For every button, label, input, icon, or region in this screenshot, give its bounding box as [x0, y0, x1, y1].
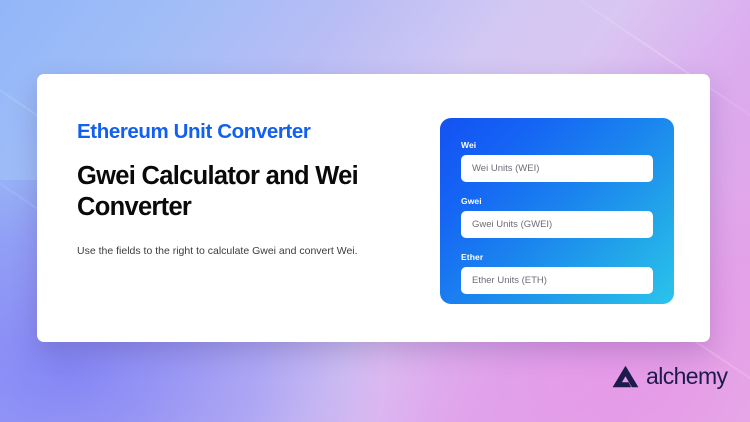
unit-converter-form: Wei Gwei Ether	[440, 118, 674, 304]
converter-card: Ethereum Unit Converter Gwei Calculator …	[37, 74, 710, 342]
page-title: Gwei Calculator and Wei Converter	[77, 161, 397, 223]
page-eyebrow: Ethereum Unit Converter	[77, 121, 422, 144]
card-text-column: Ethereum Unit Converter Gwei Calculator …	[37, 74, 422, 258]
field-label-gwei: Gwei	[461, 196, 653, 206]
wei-input[interactable]	[461, 155, 653, 182]
gwei-input[interactable]	[461, 211, 653, 238]
page-background: Ethereum Unit Converter Gwei Calculator …	[0, 0, 750, 422]
alchemy-logo: alchemy	[612, 365, 727, 388]
alchemy-wordmark: alchemy	[646, 365, 727, 388]
alchemy-triangle-icon	[612, 365, 639, 388]
field-gwei: Gwei	[461, 196, 653, 238]
page-subtitle: Use the fields to the right to calculate…	[77, 244, 422, 259]
ether-input[interactable]	[461, 267, 653, 294]
field-label-wei: Wei	[461, 140, 653, 150]
field-label-ether: Ether	[461, 252, 653, 262]
field-ether: Ether	[461, 252, 653, 294]
field-wei: Wei	[461, 140, 653, 182]
